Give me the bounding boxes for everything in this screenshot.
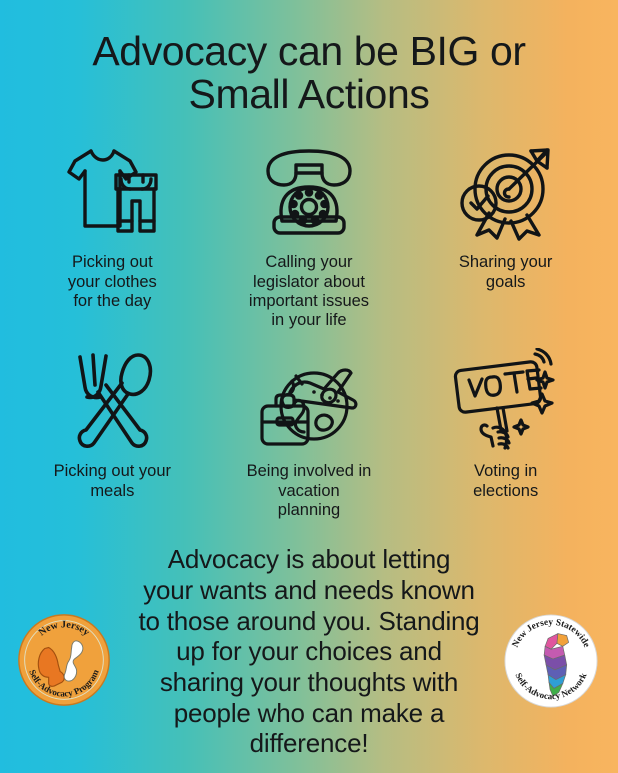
clothes-icon <box>56 135 168 247</box>
advocacy-poster: Advocacy can be BIG or Small Actions <box>0 0 618 773</box>
item-picking-clothes: Picking out your clothes for the day <box>14 135 211 330</box>
item-sharing-goals: Sharing your goals <box>407 135 604 330</box>
item-caption: Voting in elections <box>473 462 538 501</box>
item-caption: Being involved in vacation planning <box>247 462 372 520</box>
item-picking-meals: Picking out your meals <box>14 344 211 520</box>
item-voting-elections: Voting in elections <box>407 344 604 520</box>
new-jersey-self-advocacy-program-logo: New Jersey Self-Advocacy Program <box>16 612 112 708</box>
item-calling-legislator: Calling your legislator about important … <box>211 135 408 330</box>
item-caption: Picking out your clothes for the day <box>68 253 157 311</box>
new-jersey-statewide-self-advocacy-network-logo: New Jersey Statewide Self-Advocacy Netwo… <box>502 612 600 710</box>
target-goal-icon <box>450 135 562 247</box>
icon-grid-row-2: Picking out your meals <box>0 344 618 520</box>
fork-spoon-icon <box>56 344 168 456</box>
item-vacation-planning: Being involved in vacation planning <box>211 344 408 520</box>
icon-grid-row-1: Picking out your clothes for the day <box>0 135 618 330</box>
item-caption: Calling your legislator about important … <box>249 253 369 330</box>
page-title: Advocacy can be BIG or Small Actions <box>0 0 618 115</box>
vote-sign-hand-icon <box>450 344 562 456</box>
telephone-icon <box>253 135 365 247</box>
item-caption: Sharing your goals <box>459 253 553 292</box>
globe-airplane-suitcase-icon <box>253 344 365 456</box>
item-caption: Picking out your meals <box>54 462 171 501</box>
